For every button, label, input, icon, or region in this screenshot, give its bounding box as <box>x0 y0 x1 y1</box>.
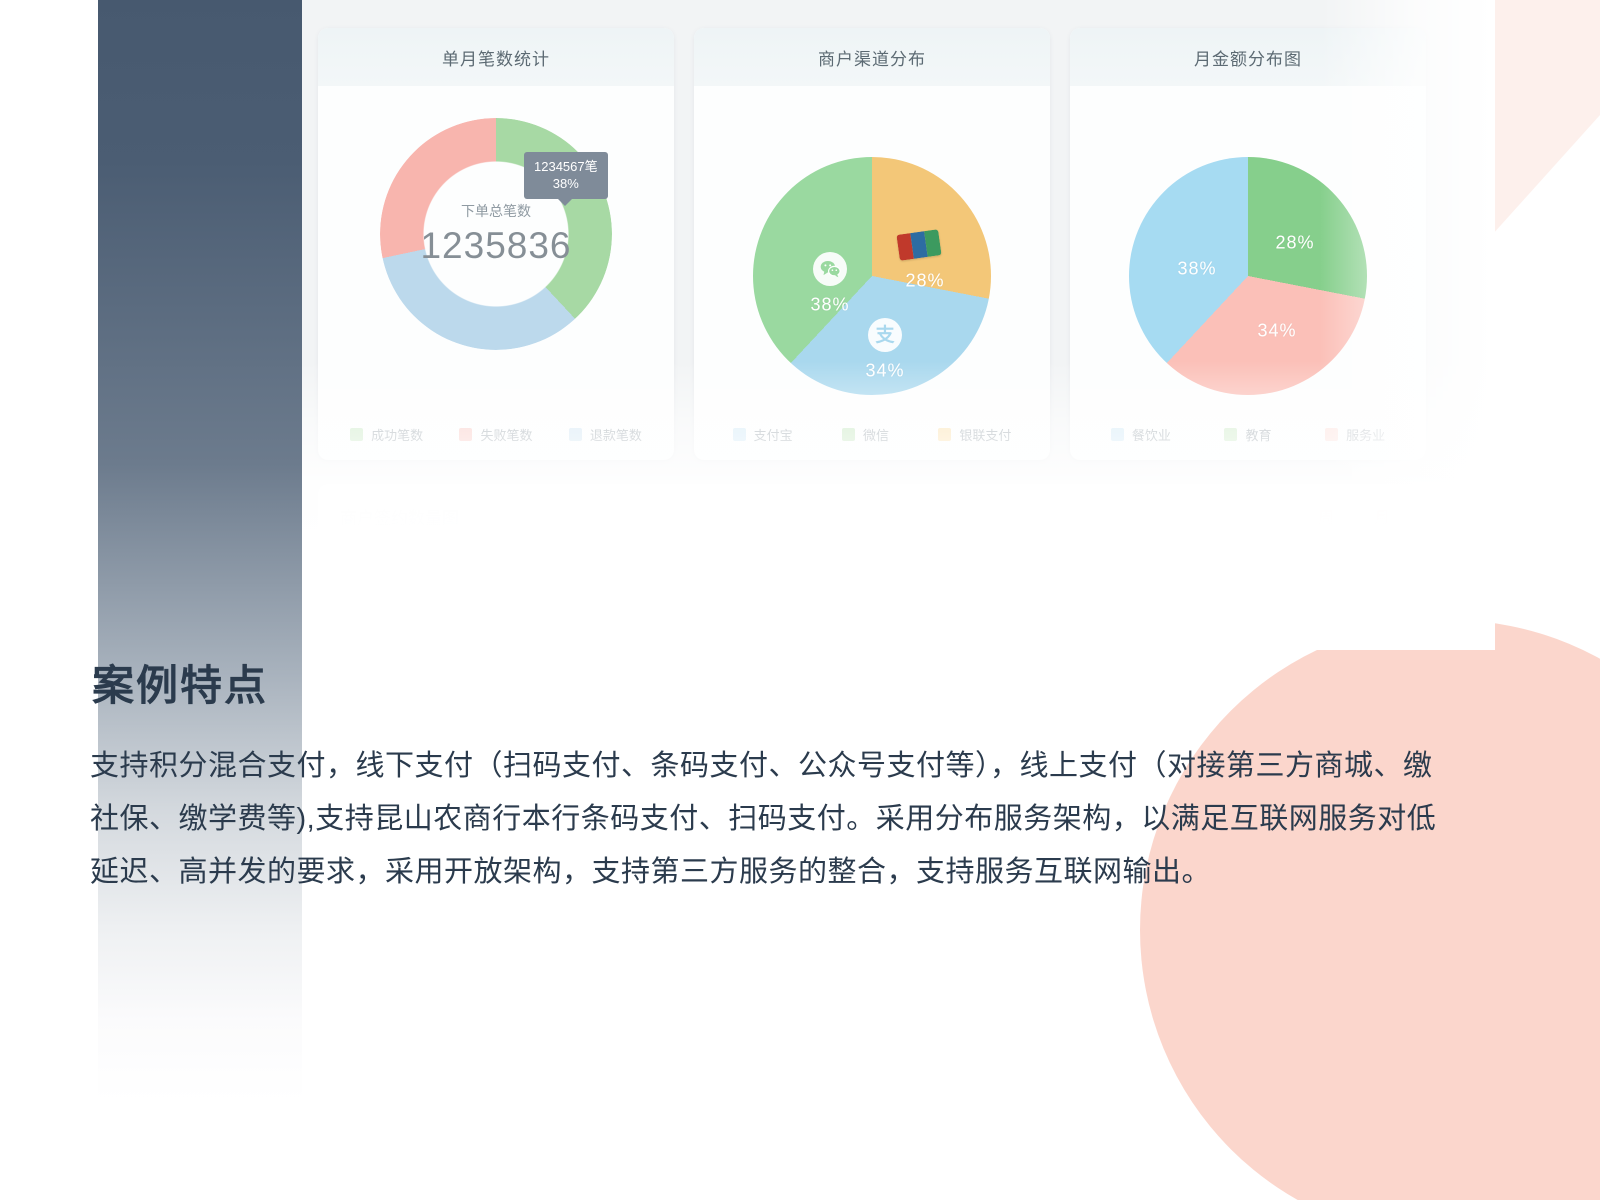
legend-label: 教育 <box>1245 425 1271 444</box>
legend-item[interactable]: 银联支付 <box>938 425 1011 444</box>
card-body: 下单总笔数 1235836 1234567笔 38% 成功笔数 <box>318 86 674 460</box>
card-title: 月金额分布图 <box>1194 45 1302 70</box>
legend-item[interactable]: 教育 <box>1224 425 1271 444</box>
legend-label: 成功笔数 <box>371 425 423 444</box>
pie-chart: 28% 34% 38% <box>1129 157 1367 395</box>
donut-center-value: 1235836 <box>396 225 596 267</box>
chart-tooltip: 1234567笔 38% <box>524 152 608 199</box>
card-monthly-transaction-count: 单月笔数统计 下单总笔数 1235836 1234567笔 38% <box>318 28 674 460</box>
legend-swatch-icon <box>733 428 746 441</box>
lower-panel-title: 商户签约数量图 <box>340 504 459 529</box>
card-title: 商户渠道分布 <box>818 45 926 70</box>
pie-slices: 28% 34% 38% <box>1129 157 1367 395</box>
slice-percent-catering: 38% <box>1177 259 1216 280</box>
legend-swatch-icon <box>1111 428 1124 441</box>
legend-item[interactable]: 微信 <box>842 425 889 444</box>
legend-item[interactable]: 服务业 <box>1325 425 1385 444</box>
slice-percent-service: 34% <box>1257 321 1296 342</box>
legend-swatch-icon <box>459 428 472 441</box>
legend-item[interactable]: 餐饮业 <box>1111 425 1171 444</box>
tab-year[interactable]: 年 <box>1430 504 1446 528</box>
chart-legend: 支付宝 微信 银联支付 <box>694 425 1050 444</box>
lower-panel-tabs: 周 月 年 <box>1318 504 1446 528</box>
card-monthly-amount-distribution: 月金额分布图 28% 34% 38% 餐饮业 <box>1070 28 1426 460</box>
slide-canvas: 单月笔数统计 下单总笔数 1235836 1234567笔 38% <box>0 0 1600 1200</box>
chart-legend: 成功笔数 失败笔数 退款笔数 <box>318 425 674 444</box>
legend-swatch-icon <box>1224 428 1237 441</box>
legend-label: 退款笔数 <box>590 425 642 444</box>
legend-label: 微信 <box>863 425 889 444</box>
legend-label: 服务业 <box>1346 425 1385 444</box>
pie-chart: 28% 支 34% <box>753 157 991 395</box>
legend-swatch-icon <box>569 428 582 441</box>
donut-center-text: 下单总笔数 1235836 <box>396 201 596 267</box>
tab-month[interactable]: 月 <box>1374 504 1390 528</box>
legend-swatch-icon <box>1325 428 1338 441</box>
slice-percent-unionpay: 28% <box>905 271 944 292</box>
tooltip-line-2: 38% <box>534 175 598 192</box>
wechat-icon <box>813 252 847 286</box>
slice-percent-education: 28% <box>1275 233 1314 254</box>
pink-circle-decoration <box>1140 620 1600 1200</box>
legend-swatch-icon <box>842 428 855 441</box>
page-title: 案例特点 <box>92 652 268 713</box>
legend-label: 支付宝 <box>754 425 793 444</box>
legend-item[interactable]: 成功笔数 <box>350 425 423 444</box>
card-body: 28% 支 34% <box>694 86 1050 460</box>
axis-tick-800: 800 <box>338 604 360 619</box>
card-merchant-channel-distribution: 商户渠道分布 28% 支 <box>694 28 1050 460</box>
tooltip-line-1: 1234567笔 <box>534 158 598 175</box>
card-header: 月金额分布图 <box>1070 28 1426 86</box>
card-header: 商户渠道分布 <box>694 28 1050 86</box>
dashboard-screenshot: 单月笔数统计 下单总笔数 1235836 1234567笔 38% <box>302 0 1492 650</box>
slice-percent-alipay: 34% <box>865 361 904 382</box>
card-title: 单月笔数统计 <box>442 45 550 70</box>
body-paragraph: 支持积分混合支付，线下支付（扫码支付、条码支付、公众号支付等），线上支付（对接第… <box>90 740 1460 899</box>
legend-swatch-icon <box>938 428 951 441</box>
axis-tick-900: 900 <box>338 562 360 577</box>
merchant-signing-panel: 商户签约数量图 周 月 年 900 800 600 <box>318 484 1462 650</box>
legend-item[interactable]: 失败笔数 <box>459 425 532 444</box>
legend-item[interactable]: 支付宝 <box>733 425 793 444</box>
tab-week[interactable]: 周 <box>1318 504 1334 528</box>
legend-swatch-icon <box>350 428 363 441</box>
slice-percent-wechat: 38% <box>810 295 849 316</box>
card-body: 28% 34% 38% 餐饮业 教育 <box>1070 86 1426 460</box>
legend-label: 失败笔数 <box>480 425 532 444</box>
legend-label: 餐饮业 <box>1132 425 1171 444</box>
alipay-icon: 支 <box>868 318 902 352</box>
chart-card-row: 单月笔数统计 下单总笔数 1235836 1234567笔 38% <box>318 28 1426 460</box>
pie-slices: 28% 支 34% <box>753 157 991 395</box>
chart-legend: 餐饮业 教育 服务业 <box>1070 425 1426 444</box>
card-header: 单月笔数统计 <box>318 28 674 86</box>
unionpay-icon <box>896 229 941 261</box>
sidebar-gradient-strip <box>98 0 302 1160</box>
legend-item[interactable]: 退款笔数 <box>569 425 642 444</box>
legend-label: 银联支付 <box>959 425 1011 444</box>
